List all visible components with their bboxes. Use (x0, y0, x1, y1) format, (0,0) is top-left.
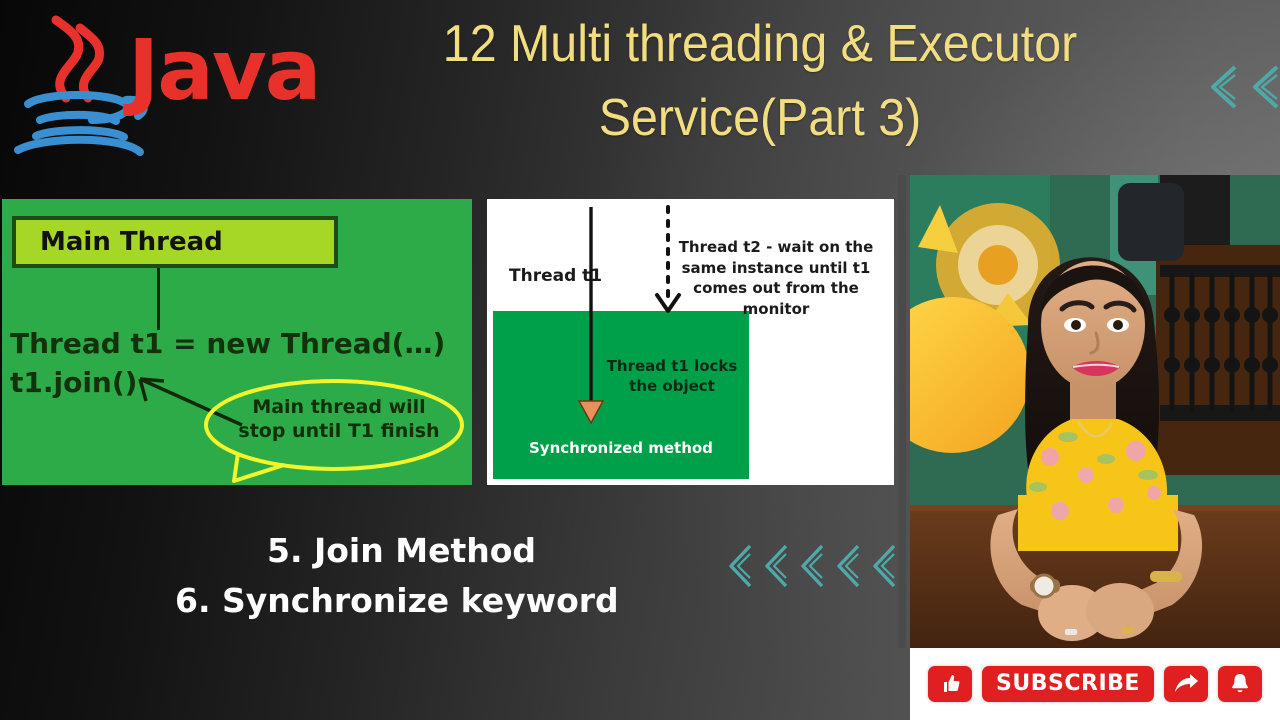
title-line-1: 12 Multi threading & Executor (360, 8, 1160, 82)
notification-button[interactable] (1218, 666, 1262, 702)
main-thread-label: Main Thread (16, 227, 223, 257)
chevron-left-icon (869, 542, 899, 590)
chevron-left-icon (797, 542, 827, 590)
subscribe-label: SUBSCRIBE (996, 673, 1140, 695)
chevron-left-icon (833, 542, 863, 590)
java-logo: Java (0, 0, 300, 160)
code-line-2: t1.join() (10, 366, 137, 399)
java-wordmark: Java (128, 28, 319, 112)
like-button[interactable] (928, 666, 972, 702)
chevron-group-bottom-middle (725, 542, 899, 590)
synchronized-method-diagram: Thread t1 Thread t2 - wait on the same i… (487, 199, 894, 485)
subscribe-button[interactable]: SUBSCRIBE (982, 666, 1154, 702)
callout-text: Main thread will stop until T1 finish (230, 395, 448, 444)
subscribe-bar: SUBSCRIBE (910, 648, 1280, 720)
title-line-2: Service(Part 3) (360, 82, 1160, 156)
lock-object-label: Thread t1 locks the object (597, 357, 747, 396)
topic-item-synchronize: 6. Synchronize keyword (175, 576, 735, 626)
chevron-group-top-right (1205, 62, 1280, 112)
thumbs-up-icon (938, 672, 962, 696)
notification-bell-icon (1229, 672, 1251, 696)
presenter-photo-image (910, 175, 1280, 648)
chevron-left-icon (761, 542, 791, 590)
main-thread-connector-line (157, 268, 160, 330)
page-title: 12 Multi threading & Executor Service(Pa… (360, 8, 1160, 156)
topic-item-join: 5. Join Method (175, 526, 735, 576)
main-thread-box: Main Thread (12, 216, 338, 268)
share-arrow-icon (1173, 673, 1199, 695)
thread-t2-note: Thread t2 - wait on the same instance un… (662, 237, 890, 320)
thread-t1-label: Thread t1 (509, 266, 602, 286)
synchronized-method-label: Synchronized method (529, 439, 713, 457)
code-line-1: Thread t1 = new Thread(…) (10, 327, 445, 360)
video-thumbnail-canvas: Java 12 Multi threading & Executor Servi… (0, 0, 1280, 720)
presenter-photo (910, 175, 1280, 648)
join-method-diagram: Main Thread Thread t1 = new Thread(…) t1… (2, 199, 472, 485)
chevron-left-icon (1247, 62, 1280, 112)
topic-list: 5. Join Method 6. Synchronize keyword (175, 526, 735, 626)
photo-left-border (898, 175, 906, 648)
share-button[interactable] (1164, 666, 1208, 702)
chevron-left-icon (1205, 62, 1241, 112)
